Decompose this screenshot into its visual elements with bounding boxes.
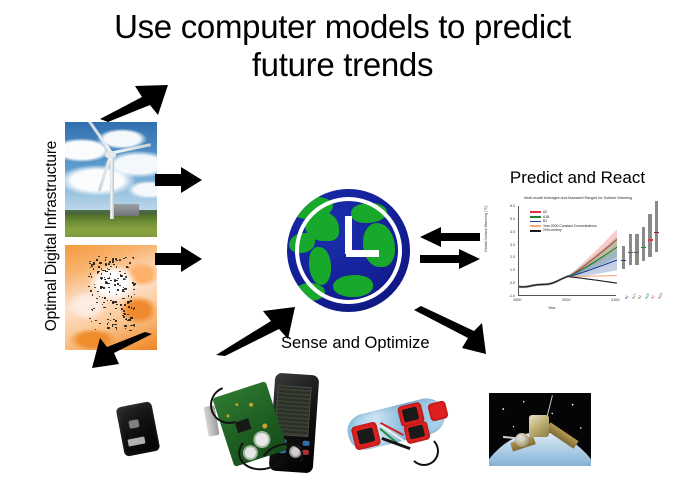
- arrow-thermal-to-globe: [155, 245, 203, 273]
- thermal-data-point: [112, 302, 114, 304]
- thermal-data-point: [113, 319, 115, 320]
- chart-y-tick: 2.0: [504, 255, 515, 259]
- thermal-data-point: [91, 276, 92, 278]
- thermal-data-point: [102, 297, 103, 298]
- arrow-to-turbine: [98, 82, 170, 122]
- warming-projection-chart: Multi-model Averages and Assessed Ranges…: [490, 194, 662, 318]
- thermal-data-point: [127, 314, 129, 315]
- chart-best-estimate-mark: [634, 252, 639, 253]
- thermal-data-point: [128, 319, 130, 321]
- chart-range-label: A2: [650, 294, 655, 299]
- thermal-data-point: [130, 317, 132, 319]
- chart-y-tick: 4.0: [504, 230, 515, 234]
- snowboard-binding: [427, 400, 449, 422]
- chart-y-tick: 1.0: [504, 268, 515, 272]
- thermal-data-point: [110, 313, 112, 315]
- chart-title: Multi-model Averages and Assessed Ranges…: [494, 195, 662, 200]
- thermal-data-point: [110, 280, 112, 282]
- arrow-to-thermal: [92, 332, 154, 370]
- chart-range-label: A1B: [644, 292, 650, 299]
- arrow-turbine-to-globe: [155, 166, 203, 194]
- thermal-data-point: [128, 267, 129, 268]
- chart-range-bar: [648, 214, 651, 258]
- chart-y-tick: 5.0: [504, 217, 515, 221]
- thermal-data-point: [112, 261, 114, 262]
- turbine-mast: [110, 154, 114, 218]
- mote-casing: [116, 401, 161, 457]
- thermal-data-point: [114, 324, 117, 326]
- chart-y-axis-label: Global Surface Warming (°C): [484, 166, 488, 252]
- slide-canvas: Use computer models to predict future tr…: [0, 0, 679, 480]
- thermal-data-point: [99, 323, 101, 324]
- chart-x-axis-label: Year: [548, 306, 556, 310]
- thermal-data-point: [99, 262, 102, 264]
- chart-x-tick: 1900: [513, 298, 521, 302]
- turbine-shed: [113, 204, 139, 216]
- thermal-data-point: [124, 304, 125, 306]
- thermal-data-point: [93, 262, 94, 264]
- chart-y-tick: 3.0: [504, 243, 515, 247]
- globe-clock-icon: [287, 189, 410, 312]
- chart-range-label: A1FI: [657, 292, 664, 300]
- thermal-data-point: [95, 329, 96, 331]
- chart-range-label: A1T: [631, 293, 637, 300]
- thermal-data-point: [116, 260, 118, 262]
- thermal-data-point: [100, 287, 102, 288]
- sensor-mote-photo: [108, 398, 170, 460]
- chart-range-label: B1: [624, 294, 629, 299]
- chart-legend-label: 20th century: [543, 228, 562, 233]
- sense-and-optimize-label: Sense and Optimize: [281, 334, 430, 353]
- thermal-data-point: [103, 287, 105, 289]
- thermal-data-point: [108, 287, 110, 288]
- chart-best-estimate-mark: [648, 239, 653, 240]
- thermal-data-point: [125, 289, 127, 290]
- circuit-board-pda-photo: [200, 372, 322, 477]
- thermal-data-point: [119, 259, 122, 261]
- satellite-photo: [489, 393, 591, 466]
- chart-legend-swatch: [530, 221, 541, 223]
- thermal-data-point: [107, 327, 109, 329]
- thermal-data-point: [107, 319, 109, 321]
- chart-range-bar: [635, 234, 638, 265]
- clock-hour-hand: [346, 250, 379, 257]
- turbine-nacelle: [105, 151, 116, 158]
- chart-legend-swatch: [530, 230, 541, 232]
- thermal-data-point: [107, 323, 108, 324]
- chart-legend-item: 20th century: [530, 228, 597, 233]
- chart-legend: A2A1BB1Year 2000 Constant Concentrations…: [530, 210, 597, 233]
- thermal-data-point: [123, 316, 125, 318]
- chart-x-tick: 2100: [611, 298, 619, 302]
- instrumented-snowboard-photo: [345, 390, 450, 470]
- board-solder: [249, 402, 254, 407]
- thermal-data-point: [91, 321, 93, 322]
- satellite-bus: [529, 415, 549, 437]
- chart-range-bar: [622, 246, 625, 269]
- pda-key: [302, 441, 309, 446]
- chart-range-bar: [629, 234, 632, 265]
- predict-and-react-label: Predict and React: [495, 168, 660, 188]
- chart-best-estimate-mark: [628, 252, 633, 253]
- thermal-data-point: [112, 325, 113, 327]
- chart-legend-swatch: [530, 211, 541, 213]
- arrow-globe-to-chart: [419, 249, 481, 269]
- thermal-data-point: [105, 257, 106, 258]
- satellite-dish: [515, 433, 529, 447]
- thermal-data-point: [112, 258, 115, 260]
- clock-minute-hand: [345, 216, 352, 254]
- arrow-chart-to-globe: [419, 227, 481, 247]
- wind-turbine-photo: [65, 122, 157, 237]
- thermal-data-point: [100, 277, 103, 279]
- chart-range-label: B2: [637, 294, 642, 299]
- chart-range-bar: [655, 201, 658, 252]
- chart-series-line: [519, 276, 617, 287]
- thermal-data-point: [126, 266, 127, 268]
- snowboard-cable-loop: [409, 436, 439, 466]
- chart-legend-swatch: [530, 216, 541, 218]
- chart-x-tick: 2000: [562, 298, 570, 302]
- thermal-data-point: [101, 273, 102, 275]
- chart-y-tick: 0.0: [504, 281, 515, 285]
- thermal-data-point: [94, 287, 96, 288]
- thermal-data-point: [133, 289, 135, 291]
- thermal-data-point: [125, 276, 127, 278]
- thermal-data-point: [110, 320, 111, 321]
- thermal-data-point: [113, 264, 114, 265]
- thermal-data-point: [96, 259, 98, 261]
- thermal-data-point: [120, 274, 121, 276]
- chart-best-estimate-mark: [654, 232, 659, 233]
- thermal-data-point: [114, 284, 116, 286]
- chart-legend-swatch: [530, 225, 541, 227]
- board-solder: [262, 423, 268, 429]
- chart-y-tick: 6.0: [504, 204, 515, 208]
- vertical-axis-label: Optimal Digital Infrastructure: [43, 121, 61, 351]
- thermal-data-point: [98, 266, 100, 268]
- chart-range-bar: [642, 227, 645, 262]
- thermal-data-point: [105, 263, 107, 265]
- chart-best-estimate-mark: [621, 260, 626, 261]
- chart-best-estimate-mark: [641, 247, 646, 248]
- page-title: Use computer models to predict future tr…: [70, 8, 615, 84]
- thermal-data-point: [90, 290, 92, 292]
